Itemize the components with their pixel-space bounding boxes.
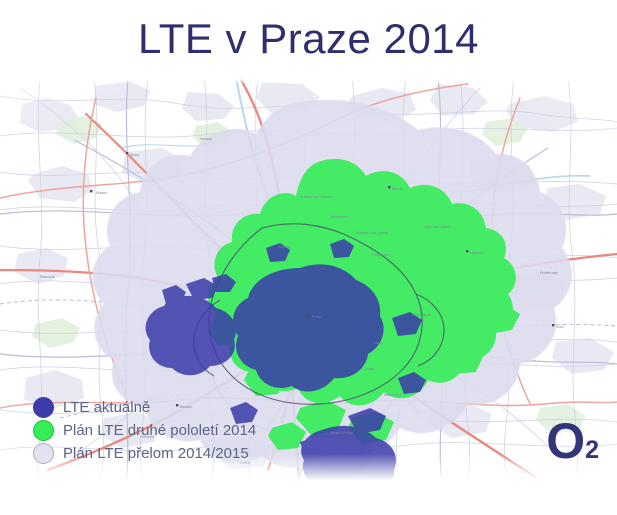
legend-item-turn-2014-2015: Plán LTE přelom 2014/2015 xyxy=(33,442,256,465)
legend-label-h2-2014: Plán LTE druhé pololetí 2014 xyxy=(63,423,256,438)
title-bar: LTE v Praze 2014 xyxy=(0,0,617,78)
svg-text:Český Brod: Český Brod xyxy=(412,312,431,317)
svg-text:Mnichovice: Mnichovice xyxy=(384,393,402,397)
legend-item-h2-2014: Plán LTE druhé pololetí 2014 xyxy=(33,419,256,442)
svg-text:Jílové u Prahy: Jílové u Prahy xyxy=(330,431,353,435)
legend-item-current: LTE aktuálně xyxy=(33,396,256,419)
svg-text:Mělník: Mělník xyxy=(392,187,403,191)
svg-text:Lysá nad Labem: Lysá nad Labem xyxy=(424,225,450,229)
page-title: LTE v Praze 2014 xyxy=(138,18,479,60)
svg-text:Praha: Praha xyxy=(312,315,322,319)
svg-text:Roztoky: Roztoky xyxy=(278,245,291,249)
legend-label-turn-2014-2015: Plán LTE přelom 2014/2015 xyxy=(63,446,249,461)
legend-label-current: LTE aktuálně xyxy=(63,400,150,415)
svg-text:Neratovice: Neratovice xyxy=(330,215,347,219)
svg-text:Velvary: Velvary xyxy=(200,137,212,141)
o2-logo-subscript: 2 xyxy=(585,438,599,463)
svg-text:Benešov: Benešov xyxy=(352,479,366,483)
svg-text:Kladno: Kladno xyxy=(96,191,107,195)
o2-logo: O 2 xyxy=(546,420,599,463)
legend-swatch-turn-2014-2015 xyxy=(33,443,54,464)
svg-text:Úvaly: Úvaly xyxy=(374,340,383,345)
svg-text:Říčany: Říčany xyxy=(364,366,375,371)
svg-text:Brandýs nad Labem: Brandýs nad Labem xyxy=(356,231,388,235)
svg-text:Kolín: Kolín xyxy=(556,325,564,329)
legend-swatch-h2-2014 xyxy=(33,420,54,441)
svg-text:Poděbrady: Poděbrady xyxy=(540,271,558,275)
svg-text:Slaný: Slaný xyxy=(130,153,139,157)
o2-logo-o: O xyxy=(546,420,584,463)
svg-text:Čelákovice: Čelákovice xyxy=(372,252,390,257)
svg-text:Kralupy nad Vltavou: Kralupy nad Vltavou xyxy=(300,195,332,199)
svg-text:Nymburk: Nymburk xyxy=(470,251,485,255)
infographic-root: LTE v Praze 2014 xyxy=(0,0,617,515)
legend-swatch-current xyxy=(33,397,54,418)
svg-text:Rakovník: Rakovník xyxy=(40,275,55,279)
legend: LTE aktuálně Plán LTE druhé pololetí 201… xyxy=(33,396,256,465)
